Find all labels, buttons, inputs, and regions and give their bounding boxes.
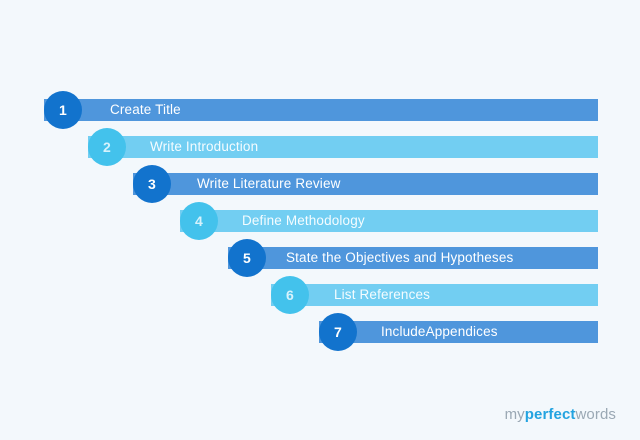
step-label: Define Methodology [242,210,365,232]
brand-logo-perfect: perfect [525,406,576,423]
step-row: 3 Write Literature Review [133,165,598,203]
step-number-badge: 3 [133,165,171,203]
step-label: List References [334,284,430,306]
step-row: 5 State the Objectives and Hypotheses [228,239,598,277]
step-number-badge: 2 [88,128,126,166]
brand-logo-my: my [505,406,525,423]
step-label: Write Literature Review [197,173,341,195]
step-number-badge: 6 [271,276,309,314]
step-row: 2 Write Introduction [88,128,598,166]
step-row: 6 List References [271,276,598,314]
step-row: 4 Define Methodology [180,202,598,240]
step-label: Create Title [110,99,181,121]
step-label: Write Introduction [150,136,258,158]
step-number-badge: 1 [44,91,82,129]
brand-logo: myperfectwords [505,407,616,422]
step-number-badge: 5 [228,239,266,277]
brand-logo-words: words [575,406,616,423]
steps-infographic: 1 Create Title 2 Write Introduction 3 Wr… [0,0,640,440]
step-bar [271,284,598,306]
step-label: State the Objectives and Hypotheses [286,247,513,269]
step-row: 7 IncludeAppendices [319,313,598,351]
step-label: IncludeAppendices [381,321,498,343]
step-number-badge: 7 [319,313,357,351]
step-row: 1 Create Title [44,91,598,129]
step-number-badge: 4 [180,202,218,240]
